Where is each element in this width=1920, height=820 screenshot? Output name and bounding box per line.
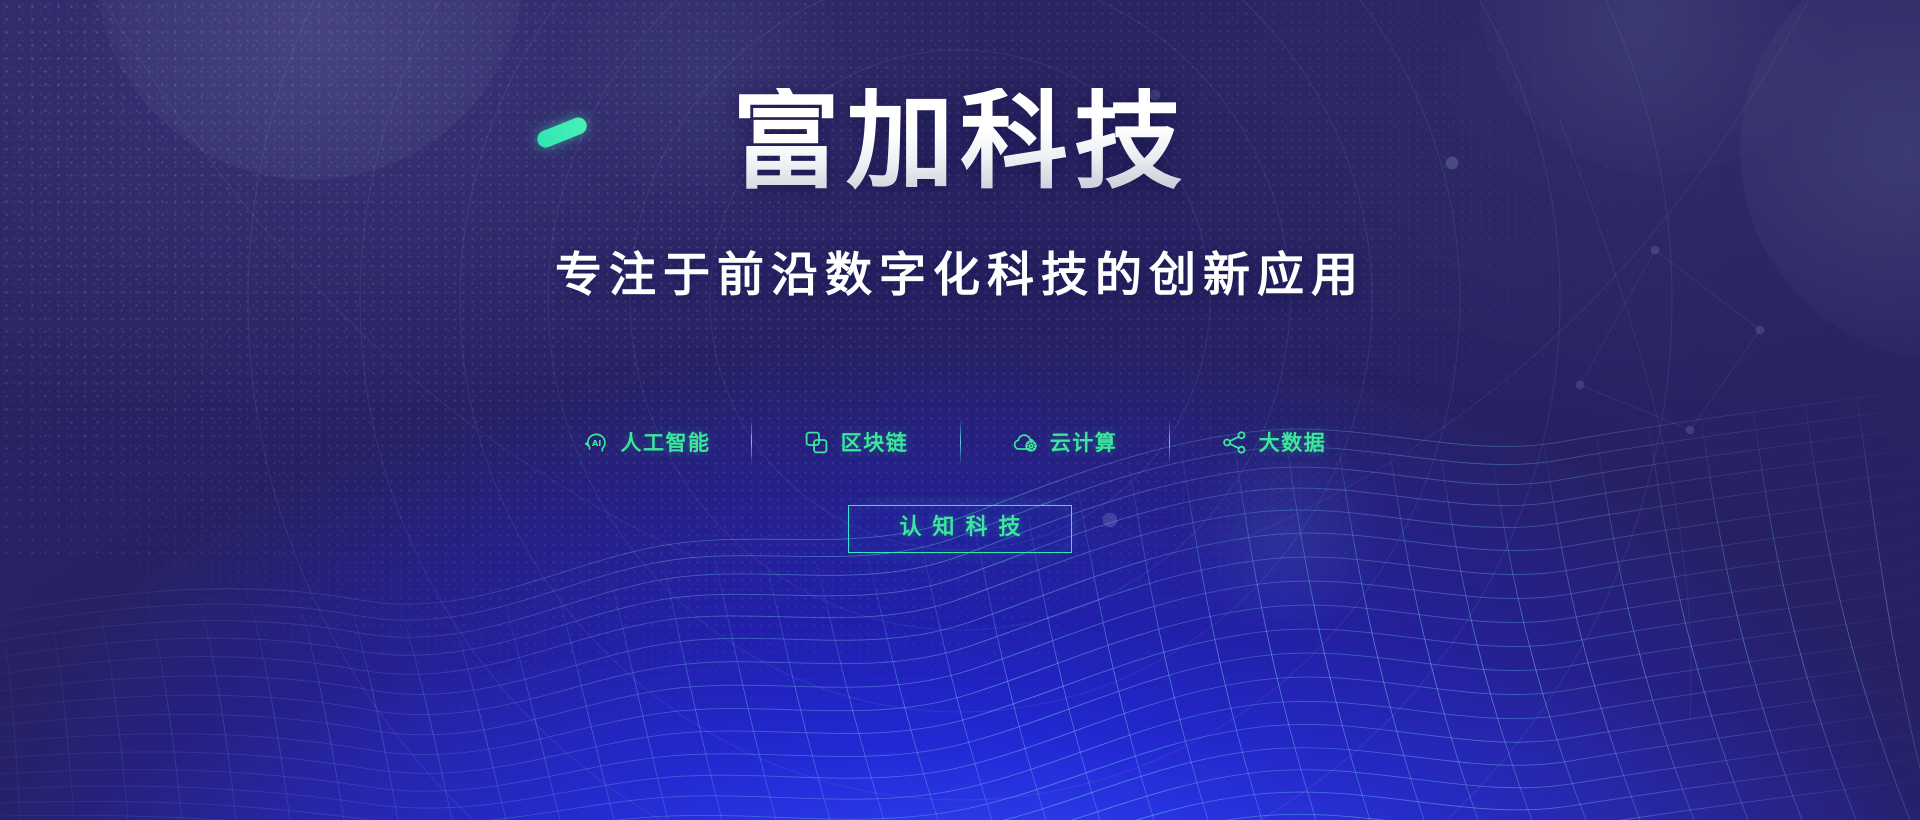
feature-item-ai[interactable]: AI 人工智能 [543,427,751,457]
blockchain-blocks-icon [803,429,830,456]
feature-item-blockchain[interactable]: 区块链 [752,427,960,457]
svg-text:AI: AI [591,437,601,447]
brand-logo: 富加科技 [0,88,1920,196]
ai-head-icon: AI [583,429,610,456]
cloud-gear-icon [1012,429,1039,456]
cta-button-label: 认知科技 [888,515,1031,540]
feature-label: 区块链 [841,427,909,457]
feature-label: 大数据 [1259,427,1327,457]
cta-container: 认知科技 [0,505,1920,553]
share-nodes-icon [1221,429,1248,456]
hero-banner: 富加科技 专注于前沿数字化科技的创新应用 AI 人工智能 [0,0,1920,820]
hero-content: 富加科技 专注于前沿数字化科技的创新应用 AI 人工智能 [0,0,1920,820]
feature-label: 云计算 [1050,427,1118,457]
hero-subtitle: 专注于前沿数字化科技的创新应用 [0,236,1920,305]
brand-logo-text: 富加科技 [732,88,1188,196]
feature-item-cloud[interactable]: 云计算 [961,427,1169,457]
feature-item-bigdata[interactable]: 大数据 [1170,427,1378,457]
logo-accent-stroke-icon [535,115,590,150]
feature-label: 人工智能 [621,427,711,457]
feature-list: AI 人工智能 区块链 [0,419,1920,465]
cta-button[interactable]: 认知科技 [848,505,1071,553]
